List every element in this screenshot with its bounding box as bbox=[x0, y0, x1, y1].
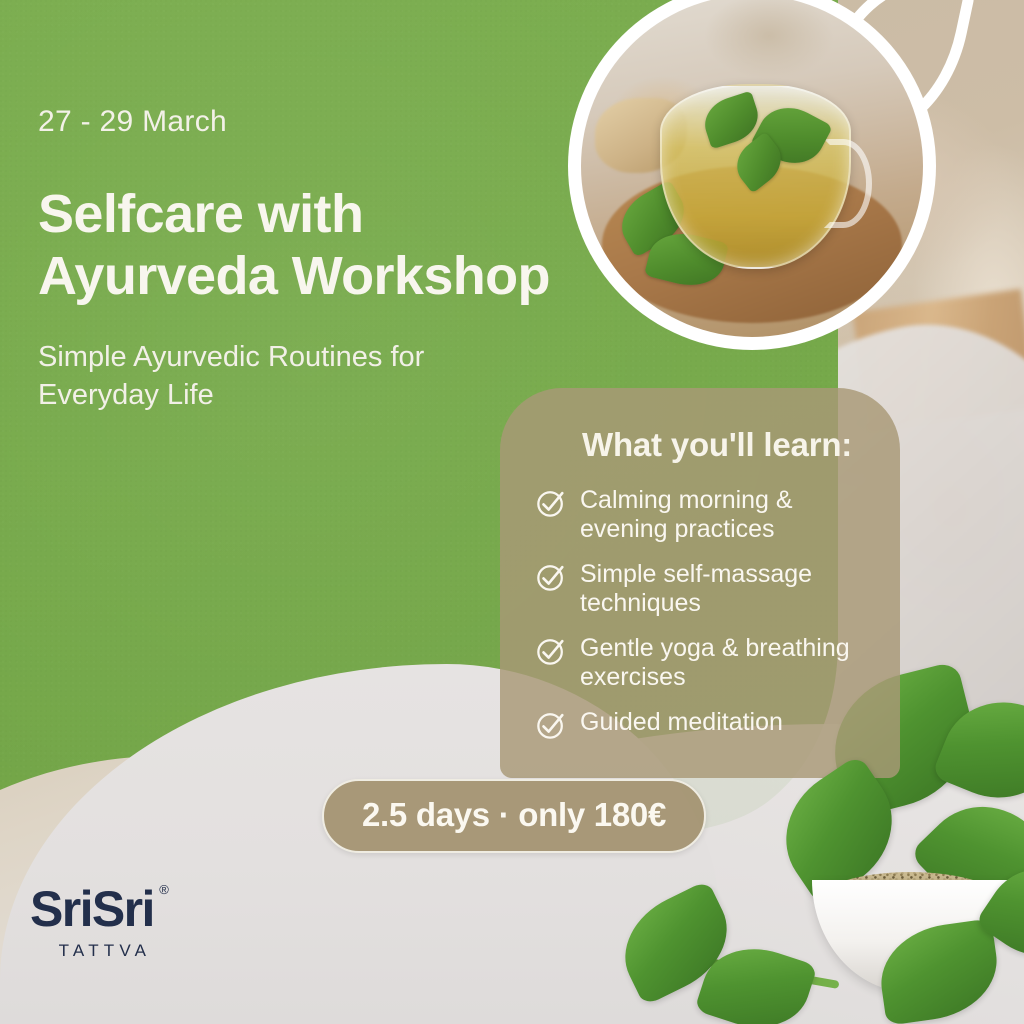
check-circle-icon bbox=[536, 562, 566, 592]
list-item-label: Simple self-massage techniques bbox=[580, 560, 874, 618]
check-circle-icon bbox=[536, 488, 566, 518]
logo-name: SriSri bbox=[30, 881, 154, 937]
list-item: Gentle yoga & breathing exercises bbox=[536, 634, 874, 692]
page-subtitle: Simple Ayurvedic Routines for Everyday L… bbox=[38, 338, 424, 415]
learn-card-title: What you'll learn: bbox=[582, 426, 874, 464]
brand-logo: SriSri® TATTVA bbox=[30, 880, 154, 961]
list-item-label: Gentle yoga & breathing exercises bbox=[580, 634, 874, 692]
subtitle-line-1: Simple Ayurvedic Routines for bbox=[38, 338, 424, 376]
learn-list: Calming morning & evening practices Simp… bbox=[536, 486, 874, 740]
check-circle-icon bbox=[536, 710, 566, 740]
what-you-will-learn-card: What you'll learn: Calming morning & eve… bbox=[500, 388, 900, 778]
list-item: Guided meditation bbox=[536, 708, 874, 740]
registered-trademark-icon: ® bbox=[159, 882, 169, 897]
check-circle-icon bbox=[536, 636, 566, 666]
page-title: Selfcare with Ayurveda Workshop bbox=[38, 184, 550, 307]
price-badge: 2.5 days · only 180€ bbox=[322, 779, 706, 853]
list-item: Calming morning & evening practices bbox=[536, 486, 874, 544]
poster-canvas: 27 - 29 March Selfcare with Ayurveda Wor… bbox=[0, 0, 1024, 1024]
event-date: 27 - 29 March bbox=[38, 105, 227, 139]
tea-photo-inner bbox=[581, 0, 923, 337]
subtitle-line-2: Everyday Life bbox=[38, 376, 424, 414]
headline-line-1: Selfcare with bbox=[38, 184, 550, 246]
list-item-label: Calming morning & evening practices bbox=[580, 486, 874, 544]
logo-tagline: TATTVA bbox=[56, 941, 154, 961]
headline-line-2: Ayurveda Workshop bbox=[38, 246, 550, 308]
list-item: Simple self-massage techniques bbox=[536, 560, 874, 618]
list-item-label: Guided meditation bbox=[580, 708, 783, 737]
logo-wordmark: SriSri® bbox=[30, 880, 154, 938]
